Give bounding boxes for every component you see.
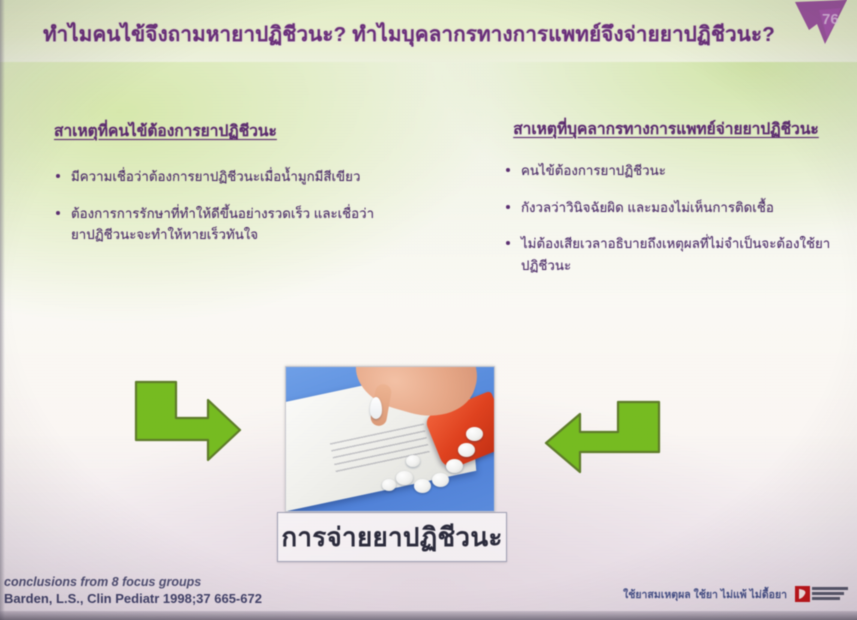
bent-arrow-right-icon	[130, 378, 245, 468]
campaign-slogan: ใช้ยาสมเหตุผล ใช้ยา ไม่แพ้ ไม่ดื้อยา	[623, 586, 787, 603]
list-item: ไม่ต้องเสียเวลาอธิบายถึงเหตุผลที่ไม่จำเป…	[504, 233, 840, 276]
source-line-1: conclusions from 8 focus groups	[4, 574, 344, 591]
caption-box: การจ่ายยาปฏิชีวนะ	[277, 512, 507, 562]
source-citation: conclusions from 8 focus groups Barden, …	[4, 574, 344, 608]
left-bullet-list: มีความเชื่อว่าต้องการยาปฏิชีวนะเมื่อน้ำม…	[40, 166, 385, 246]
pill	[396, 471, 413, 485]
pill	[382, 479, 396, 491]
pill	[414, 479, 431, 493]
pill	[466, 427, 483, 441]
list-item: ต้องการการรักษาที่ทำให้ดีขึ้นอย่างรวดเร็…	[54, 203, 385, 246]
pill	[432, 473, 449, 487]
list-item: กังวลว่าวินิจฉัยผิด และมองไม่เห็นการติดเ…	[504, 197, 840, 219]
source-line-2: Barden, L.S., Clin Pediatr 1998;37 665-6…	[4, 590, 344, 608]
list-item: คนไข้ต้องการยาปฏิชีวนะ	[504, 160, 840, 182]
svg-text:76: 76	[822, 11, 839, 28]
pill	[446, 459, 463, 473]
slide-left-edge	[0, 0, 5, 620]
bent-arrow-left-icon	[540, 398, 665, 476]
right-column-heading: สาเหตุที่บุคลากรทางการแพทย์จ่ายยาปฏิชีวน…	[492, 118, 840, 142]
page-title: ทำไมคนไข้จึงถามหายาปฏิชีวนะ? ทำไมบุคลากร…	[14, 18, 804, 51]
pill-held	[370, 397, 382, 419]
footer-branding: ใช้ยาสมเหตุผล ใช้ยา ไม่แพ้ ไม่ดื้อยา	[623, 584, 849, 604]
right-column: สาเหตุที่บุคลากรทางการแพทย์จ่ายยาปฏิชีวน…	[492, 118, 840, 291]
left-column: สาเหตุที่คนไข้ต้องการยาปฏิชีวนะ มีความเช…	[40, 120, 385, 261]
list-item: มีความเชื่อว่าต้องการยาปฏิชีวนะเมื่อน้ำม…	[54, 166, 385, 188]
right-bullet-list: คนไข้ต้องการยาปฏิชีวนะ กังวลว่าวินิจฉัยผ…	[492, 160, 840, 276]
left-column-heading: สาเหตุที่คนไข้ต้องการยาปฏิชีวนะ	[40, 120, 385, 144]
presentation-slide: 76 ทำไมคนไข้จึงถามหายาปฏิชีวนะ? ทำไมบุคล…	[0, 0, 857, 620]
caption-text: การจ่ายยาปฏิชีวนะ	[281, 517, 502, 558]
slide-bottom-edge	[0, 611, 857, 620]
center-photo	[285, 366, 495, 512]
pill	[458, 443, 475, 457]
campaign-logo-icon	[795, 584, 849, 604]
pill	[406, 455, 420, 467]
